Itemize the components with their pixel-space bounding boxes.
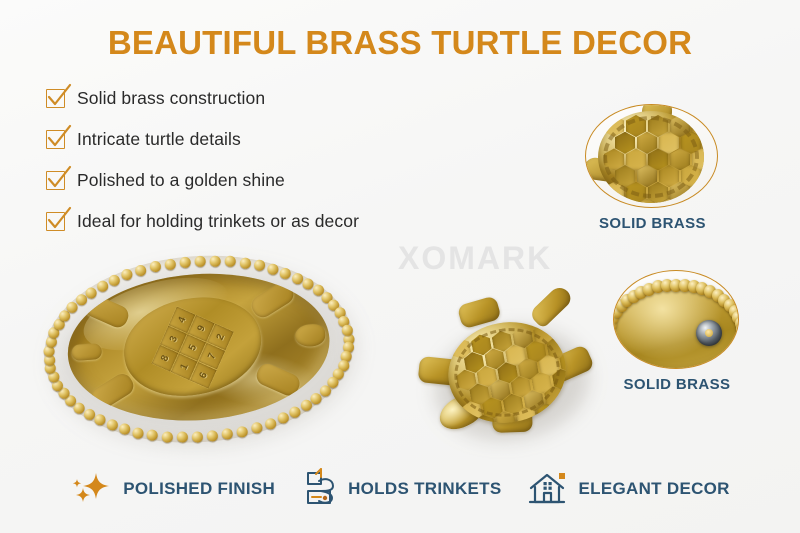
feature-polished-finish: POLISHED FINISH <box>70 469 275 509</box>
zoom-callout-rim: SOLID BRASS <box>613 270 741 393</box>
tray-beaded-edge <box>33 241 354 263</box>
product-photo-figurine <box>403 285 617 471</box>
zoom-callout-shell: SOLID BRASS <box>585 104 720 232</box>
tray-bead <box>164 258 176 270</box>
checkbox-checked-icon <box>46 212 65 231</box>
tray-bead <box>239 257 251 269</box>
list-item-label: Intricate turtle details <box>77 129 241 150</box>
callout-turtle-shell <box>598 111 704 203</box>
watermark: XOMARK <box>398 240 552 277</box>
house-icon <box>526 467 570 511</box>
feature-label: ELEGANT DECOR <box>579 479 730 499</box>
tray-turtle-leg <box>248 279 297 321</box>
tray-turtle-head <box>294 323 325 347</box>
product-infographic: BEAUTIFUL BRASS TURTLE DECOR Solid brass… <box>0 0 800 533</box>
feature-label: POLISHED FINISH <box>123 479 275 499</box>
tray-bead <box>179 256 191 268</box>
tray-bead <box>292 272 304 284</box>
feature-holds-trinkets: HOLDS TRINKETS <box>299 467 501 511</box>
tray-bead <box>83 408 95 420</box>
sparkle-icon <box>70 469 114 509</box>
callout-shell-rim <box>603 116 699 198</box>
checkbox-checked-icon <box>46 130 65 149</box>
callout-circle <box>613 270 739 369</box>
checkbox-checked-icon <box>46 89 65 108</box>
list-item-label: Ideal for holding trinkets or as decor <box>77 211 359 232</box>
checkbox-checked-icon <box>46 171 65 190</box>
feature-bar: POLISHED FINISH HOLDS TRINKETS <box>0 467 800 511</box>
feature-bullet-list: Solid brass construction Intricate turtl… <box>46 78 476 242</box>
figurine-tail <box>528 283 574 329</box>
tray-bead <box>267 263 279 275</box>
tray-bead <box>264 417 276 429</box>
callout-gem-detail <box>696 320 722 346</box>
callout-circle <box>585 104 718 208</box>
page-title: BEAUTIFUL BRASS TURTLE DECOR <box>0 24 800 62</box>
product-photo-tray: 834159672 <box>33 241 368 463</box>
list-item: Polished to a golden shine <box>46 160 476 201</box>
list-item: Intricate turtle details <box>46 119 476 160</box>
list-item-label: Polished to a golden shine <box>77 170 285 191</box>
tray-bead <box>161 431 173 443</box>
tray-bead <box>96 280 108 292</box>
feature-elegant-decor: ELEGANT DECOR <box>526 467 730 511</box>
tray-bead <box>319 385 331 397</box>
tray-bead <box>251 422 263 434</box>
callout-label: SOLID BRASS <box>585 215 720 232</box>
tray-turtle-leg <box>88 370 137 412</box>
tray-bead <box>341 324 353 336</box>
callout-label: SOLID BRASS <box>613 376 741 393</box>
list-item: Solid brass construction <box>46 78 476 119</box>
list-item-label: Solid brass construction <box>77 88 265 109</box>
jewelry-box-icon <box>299 467 339 511</box>
list-item: Ideal for holding trinkets or as decor <box>46 201 476 242</box>
feature-label: HOLDS TRINKETS <box>348 479 501 499</box>
tray-turtle-tail <box>71 343 102 361</box>
